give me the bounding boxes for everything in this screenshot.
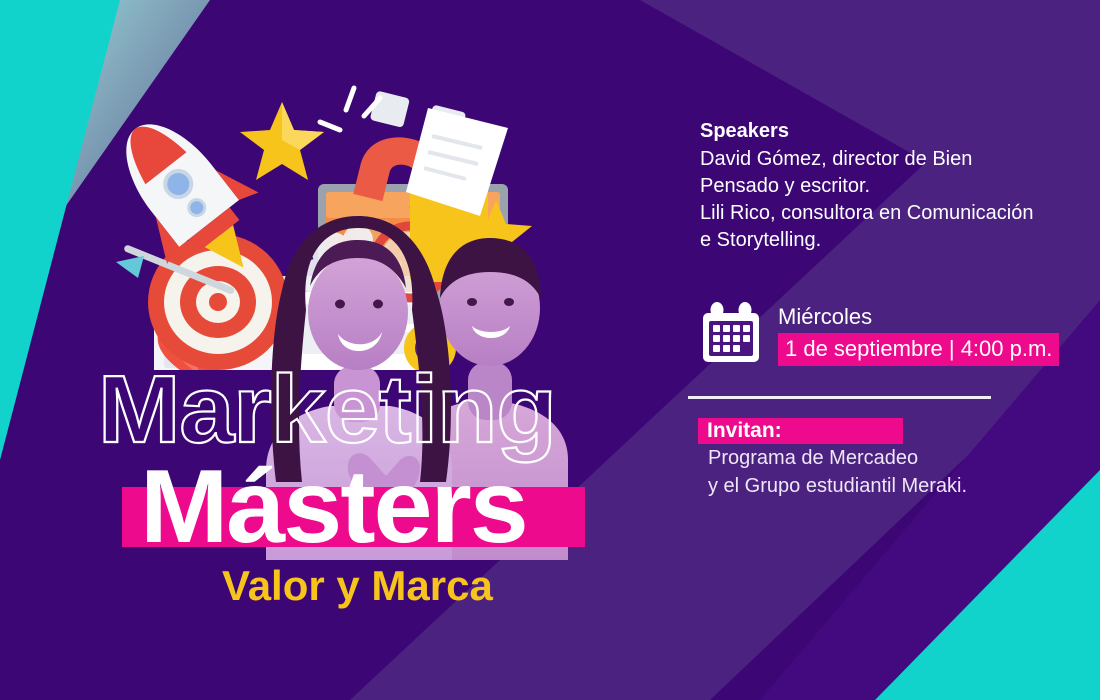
event-weekday: Miércoles [778,304,1059,330]
speaker-line-3: Lili Rico, consultora en Comunicación [700,200,1070,227]
event-date-time: 1 de septiembre | 4:00 p.m. [778,333,1059,366]
event-date-texts: Miércoles 1 de septiembre | 4:00 p.m. [778,298,1059,366]
event-poster: Marketing Másters Valor y Marca Speakers… [0,0,1100,700]
invitan-line-1: Programa de Mercadeo [708,444,967,472]
invitan-line-2: y el Grupo estudiantil Meraki. [708,472,967,500]
speaker-line-1: David Gómez, director de Bien [700,146,1070,173]
invitan-highlight-bar: Invitan: [698,418,903,444]
section-divider [688,396,991,399]
speakers-block: Speakers David Gómez, director de Bien P… [700,118,1070,254]
spark-lines [320,88,380,130]
speaker-line-2: Pensado y escritor. [700,173,1070,200]
speakers-heading: Speakers [700,118,1070,144]
title-line-marketing: Marketing [98,362,556,458]
title-line-masters: Másters [140,455,527,559]
title-subtitle: Valor y Marca [222,563,493,609]
invitan-block: Invitan: Programa de Mercadeo y el Grupo… [698,418,967,500]
event-date-row: Miércoles 1 de septiembre | 4:00 p.m. [700,298,1059,366]
speaker-line-4: e Storytelling. [700,227,1070,254]
invitan-label: Invitan: [707,417,782,444]
calendar-icon [700,302,762,364]
